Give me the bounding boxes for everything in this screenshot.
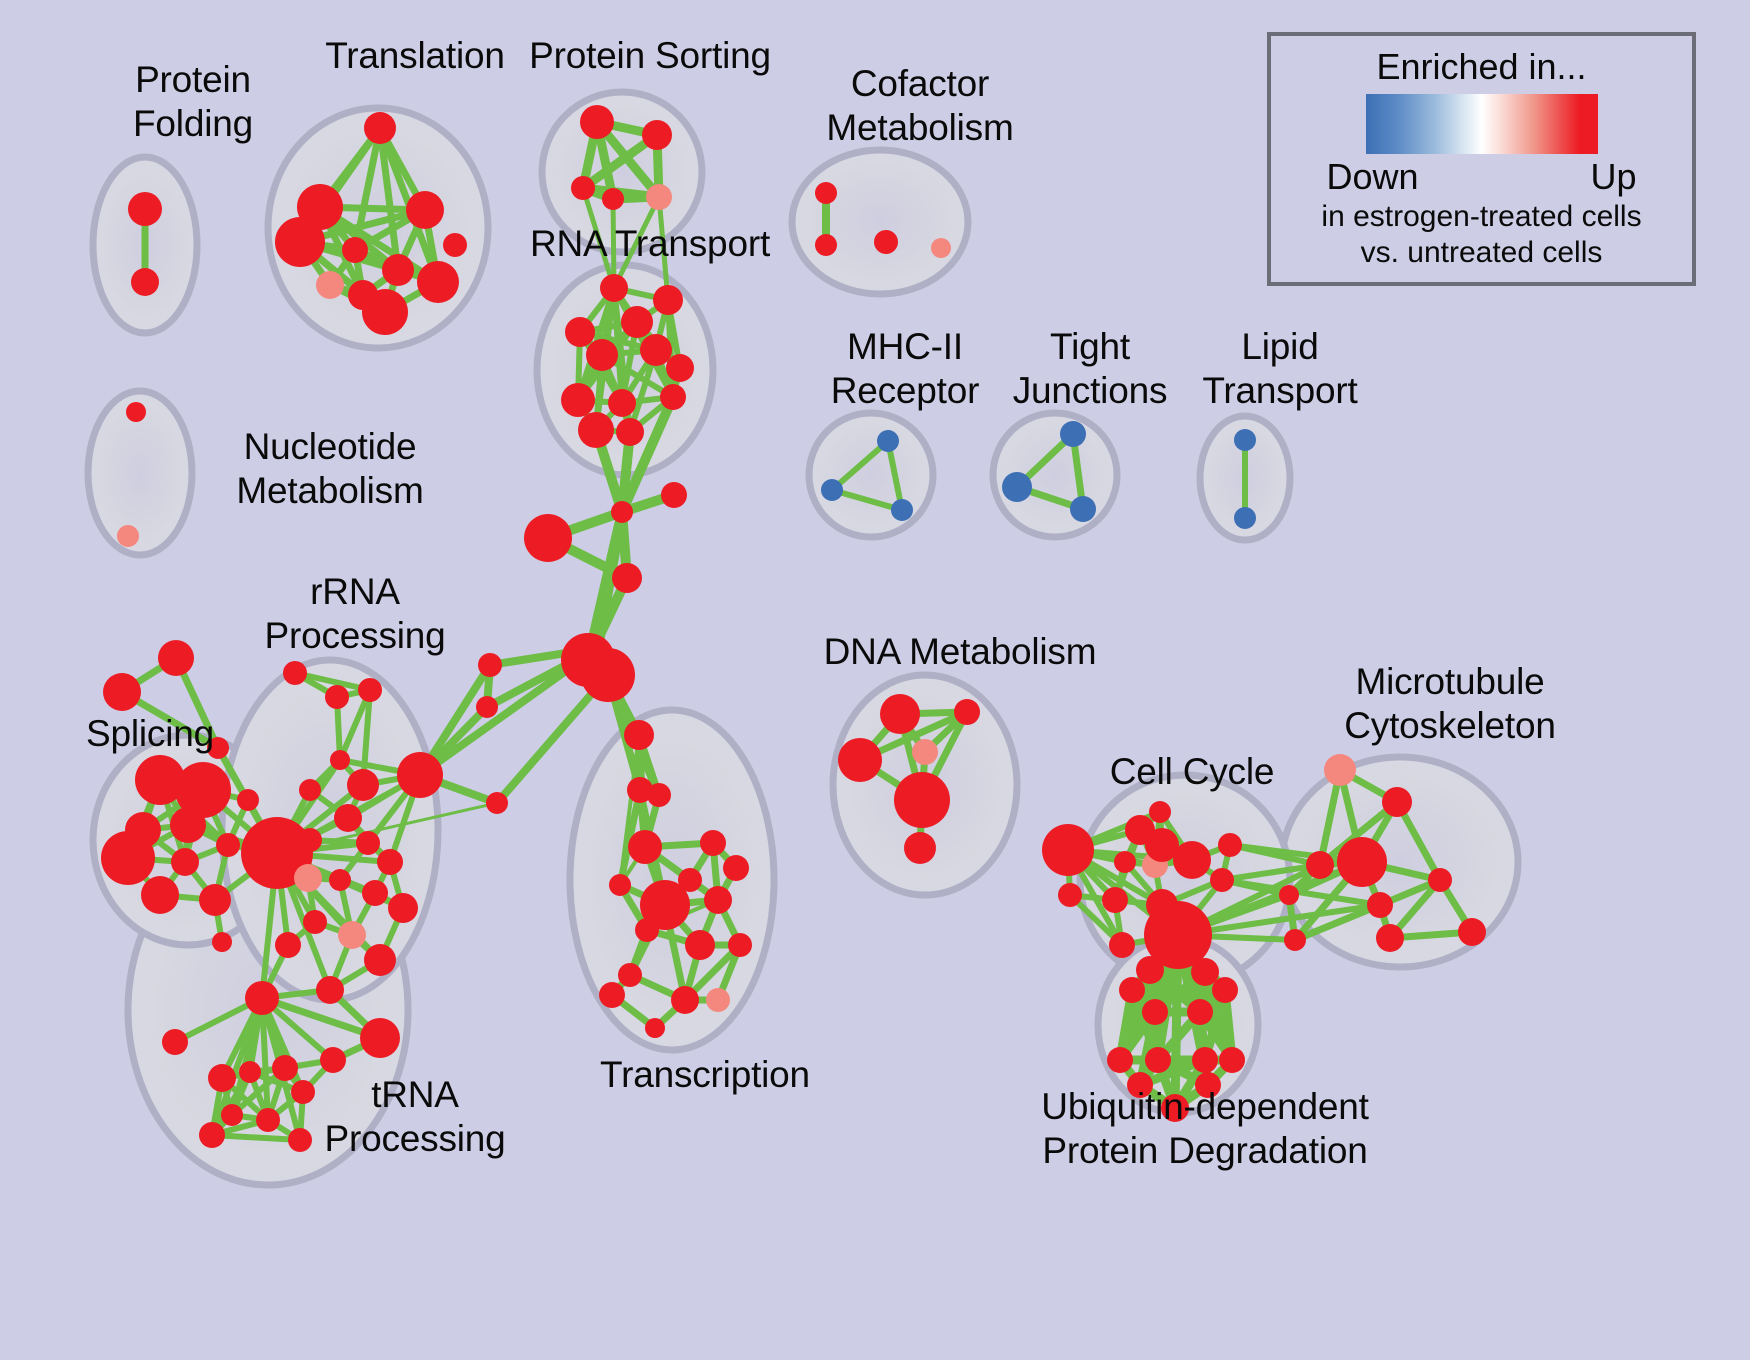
node xyxy=(272,1055,298,1081)
node xyxy=(561,383,595,417)
node xyxy=(126,402,146,422)
node xyxy=(338,921,366,949)
node xyxy=(1042,824,1094,876)
node xyxy=(1119,977,1145,1003)
node xyxy=(486,792,508,814)
node xyxy=(815,234,837,256)
node xyxy=(298,828,322,852)
node xyxy=(602,188,624,210)
legend-down-label: Down xyxy=(1327,155,1419,199)
node xyxy=(141,876,179,914)
node xyxy=(1279,885,1299,905)
node xyxy=(275,217,325,267)
node xyxy=(170,807,206,843)
node xyxy=(877,430,899,452)
node xyxy=(571,176,595,200)
node xyxy=(283,661,307,685)
node xyxy=(356,831,380,855)
node xyxy=(815,182,837,204)
node xyxy=(237,789,259,811)
node xyxy=(158,640,194,676)
node xyxy=(417,261,459,303)
node xyxy=(362,289,408,335)
node xyxy=(294,864,322,892)
node xyxy=(325,685,349,709)
node xyxy=(524,514,572,562)
node xyxy=(207,737,229,759)
node xyxy=(291,1080,315,1104)
node xyxy=(1142,999,1168,1025)
node xyxy=(1060,421,1086,447)
cluster-cofactor-metabolism xyxy=(792,150,968,294)
node xyxy=(874,230,898,254)
node xyxy=(1102,887,1128,913)
node xyxy=(316,271,344,299)
node xyxy=(580,105,614,139)
node xyxy=(1212,977,1238,1003)
node xyxy=(288,1128,312,1152)
node xyxy=(1195,1072,1221,1098)
legend-color-gradient-bar xyxy=(1366,94,1598,154)
node xyxy=(894,772,950,828)
node xyxy=(880,694,920,734)
node xyxy=(117,525,139,547)
node xyxy=(685,930,715,960)
node xyxy=(1376,924,1404,952)
node xyxy=(624,720,654,750)
node xyxy=(1219,1047,1245,1073)
node xyxy=(208,1064,236,1092)
node xyxy=(1149,801,1171,823)
node xyxy=(904,832,936,864)
node xyxy=(706,988,730,1012)
node xyxy=(377,849,403,875)
node xyxy=(1161,1094,1189,1122)
node xyxy=(1058,883,1082,907)
node xyxy=(586,339,618,371)
node xyxy=(1107,1047,1133,1073)
node xyxy=(660,384,686,410)
node xyxy=(364,944,396,976)
node xyxy=(330,750,350,770)
node xyxy=(239,1061,261,1083)
node xyxy=(1234,429,1256,451)
node xyxy=(612,563,642,593)
node xyxy=(581,648,635,702)
node xyxy=(1367,892,1393,918)
node xyxy=(653,285,683,315)
node xyxy=(1210,868,1234,892)
node xyxy=(700,830,726,856)
node xyxy=(1114,851,1136,873)
node xyxy=(342,237,368,263)
node xyxy=(388,893,418,923)
legend-up-label: Up xyxy=(1590,155,1636,199)
node xyxy=(171,848,199,876)
node xyxy=(103,673,141,711)
node xyxy=(212,932,232,952)
node xyxy=(256,1108,280,1132)
node xyxy=(618,963,642,987)
legend-subtitle-line-2: vs. untreated cells xyxy=(1361,235,1603,271)
node xyxy=(621,306,653,338)
node xyxy=(162,1029,188,1055)
node xyxy=(609,874,631,896)
node xyxy=(611,501,633,523)
node xyxy=(406,191,444,229)
node xyxy=(299,779,321,801)
node xyxy=(199,1122,225,1148)
node xyxy=(1382,787,1412,817)
node xyxy=(627,777,653,803)
node xyxy=(478,653,502,677)
node xyxy=(347,769,379,801)
node xyxy=(1145,1047,1171,1073)
node xyxy=(628,830,662,864)
node xyxy=(1136,956,1164,984)
node xyxy=(666,354,694,382)
cluster-protein-sorting xyxy=(542,92,702,252)
node xyxy=(1002,472,1032,502)
node xyxy=(642,120,672,150)
node xyxy=(1191,958,1219,986)
node xyxy=(101,831,155,885)
node xyxy=(1324,754,1356,786)
node xyxy=(1218,833,1242,857)
node xyxy=(1173,841,1211,879)
node xyxy=(821,479,843,501)
node xyxy=(1109,932,1135,958)
node xyxy=(599,982,625,1008)
node xyxy=(128,192,162,226)
node xyxy=(131,268,159,296)
node xyxy=(565,317,595,347)
node xyxy=(1284,929,1306,951)
node xyxy=(358,678,382,702)
node xyxy=(671,986,699,1014)
node xyxy=(1428,868,1452,892)
node xyxy=(1127,1072,1153,1098)
node xyxy=(216,833,240,857)
node xyxy=(364,112,396,144)
node xyxy=(640,334,672,366)
node xyxy=(1187,999,1213,1025)
enrichment-map-figure: Protein FoldingTranslationProtein Sortin… xyxy=(0,0,1750,1360)
node xyxy=(443,233,467,257)
node xyxy=(245,981,279,1015)
node xyxy=(931,238,951,258)
node xyxy=(1337,837,1387,887)
node xyxy=(397,752,443,798)
node xyxy=(1070,496,1096,522)
legend-subtitle-line-1: in estrogen-treated cells xyxy=(1321,199,1641,235)
node xyxy=(954,699,980,725)
node xyxy=(334,804,362,832)
node xyxy=(362,880,388,906)
node xyxy=(578,412,614,448)
node xyxy=(382,254,414,286)
legend-title: Enriched in... xyxy=(1376,46,1586,88)
node xyxy=(199,884,231,916)
node xyxy=(1192,1047,1218,1073)
node xyxy=(329,869,351,891)
node xyxy=(912,739,938,765)
node xyxy=(600,274,628,302)
node xyxy=(1458,918,1486,946)
legend-endpoint-labels: Down Up xyxy=(1327,155,1637,199)
node xyxy=(891,499,913,521)
node xyxy=(360,1018,400,1058)
node xyxy=(645,1018,665,1038)
cluster-mhc-ii-receptor xyxy=(809,413,933,537)
node xyxy=(275,932,301,958)
node xyxy=(476,696,498,718)
node xyxy=(616,418,644,446)
node xyxy=(728,933,752,957)
node xyxy=(723,855,749,881)
node xyxy=(661,482,687,508)
node xyxy=(316,976,344,1004)
node xyxy=(303,910,327,934)
node xyxy=(646,184,672,210)
node xyxy=(608,389,636,417)
node xyxy=(320,1047,346,1073)
node xyxy=(704,886,732,914)
node xyxy=(221,1104,243,1126)
node xyxy=(1306,851,1334,879)
node xyxy=(1234,507,1256,529)
node xyxy=(838,738,882,782)
node xyxy=(635,918,659,942)
legend-panel: Enriched in... Down Up in estrogen-treat… xyxy=(1267,32,1696,286)
